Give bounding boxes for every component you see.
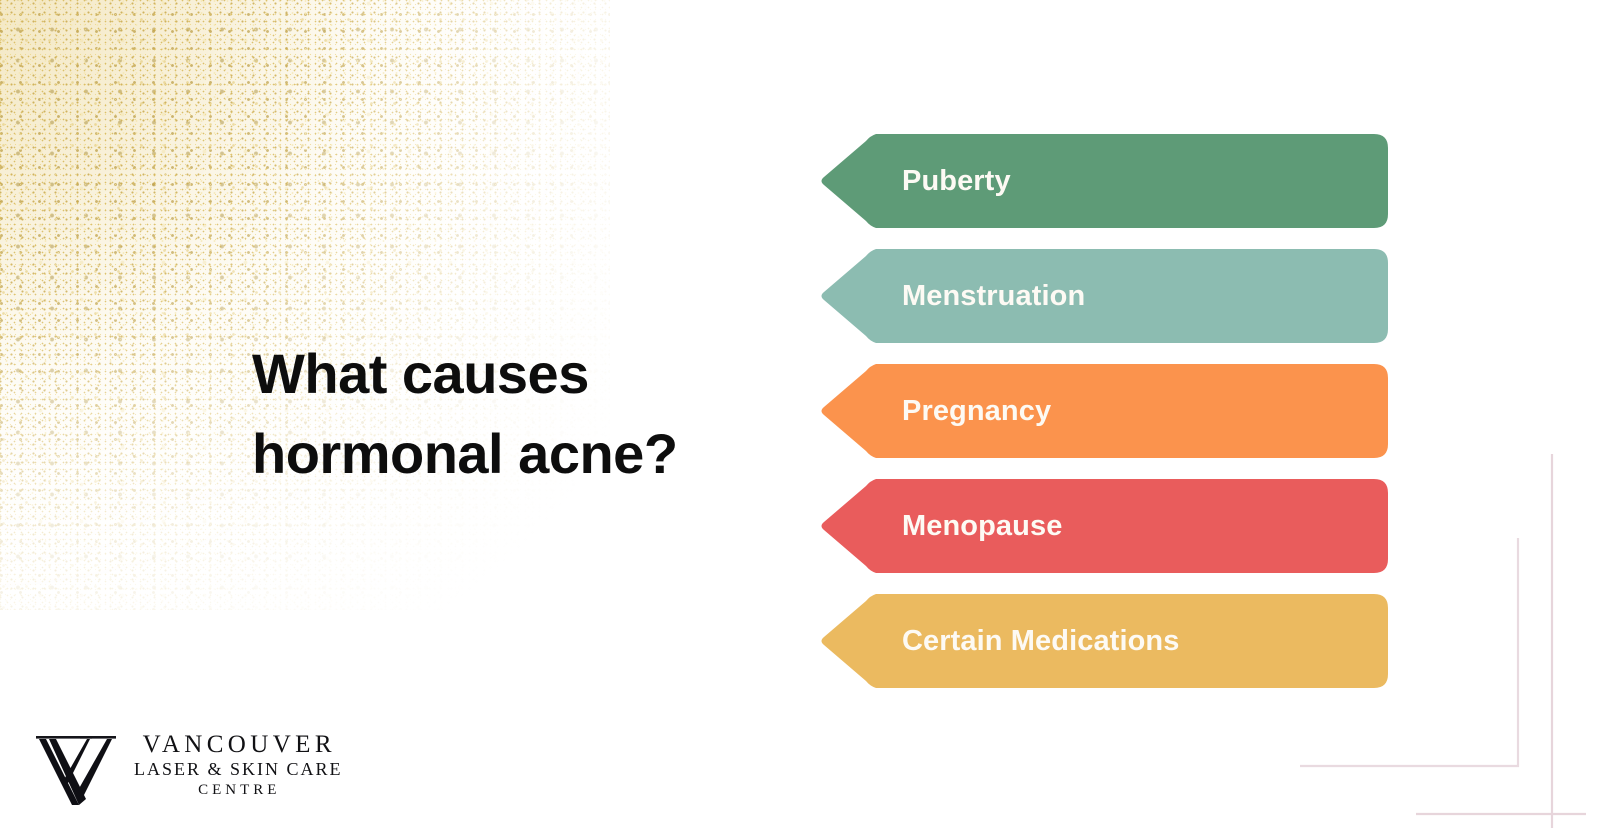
cause-banner-certain-medications[interactable]: Certain Medications bbox=[818, 592, 1390, 690]
page-title: What causes hormonal acne? bbox=[252, 334, 722, 493]
glitter-speck-layer-medium bbox=[0, 0, 610, 610]
brand-name-primary: VANCOUVER bbox=[139, 731, 336, 759]
vv-monogram-icon bbox=[30, 722, 122, 808]
brand-logo-text: VANCOUVER LASER & SKIN CARE CENTRE bbox=[132, 731, 343, 800]
cause-banner-menstruation[interactable]: Menstruation bbox=[818, 247, 1390, 345]
cause-banner-label: Menstruation bbox=[902, 247, 1085, 345]
brand-name-secondary: LASER & SKIN CARE bbox=[132, 759, 343, 781]
cause-banner-list: Puberty Menstruation Pregnancy Menopause bbox=[818, 132, 1390, 690]
headline-line-1: What causes bbox=[252, 334, 722, 414]
glitter-wash bbox=[0, 0, 610, 610]
cause-banner-label: Pregnancy bbox=[902, 362, 1051, 460]
cause-banner-label: Menopause bbox=[902, 477, 1062, 575]
cause-banner-label: Certain Medications bbox=[902, 592, 1179, 690]
glitter-speck-layer-small bbox=[0, 0, 610, 610]
cause-banner-menopause[interactable]: Menopause bbox=[818, 477, 1390, 575]
brand-name-tertiary: CENTRE bbox=[194, 781, 280, 800]
headline-line-2: hormonal acne? bbox=[252, 414, 722, 494]
glitter-speck-layer-large bbox=[0, 0, 610, 610]
cause-banner-puberty[interactable]: Puberty bbox=[818, 132, 1390, 230]
brand-logo: VANCOUVER LASER & SKIN CARE CENTRE bbox=[30, 722, 343, 808]
cause-banner-pregnancy[interactable]: Pregnancy bbox=[818, 362, 1390, 460]
slide-canvas: What causes hormonal acne? Puberty Menst… bbox=[0, 0, 1600, 836]
glitter-speck-layer-fine bbox=[0, 0, 610, 610]
gold-glitter-texture bbox=[0, 0, 610, 610]
cause-banner-label: Puberty bbox=[902, 132, 1011, 230]
